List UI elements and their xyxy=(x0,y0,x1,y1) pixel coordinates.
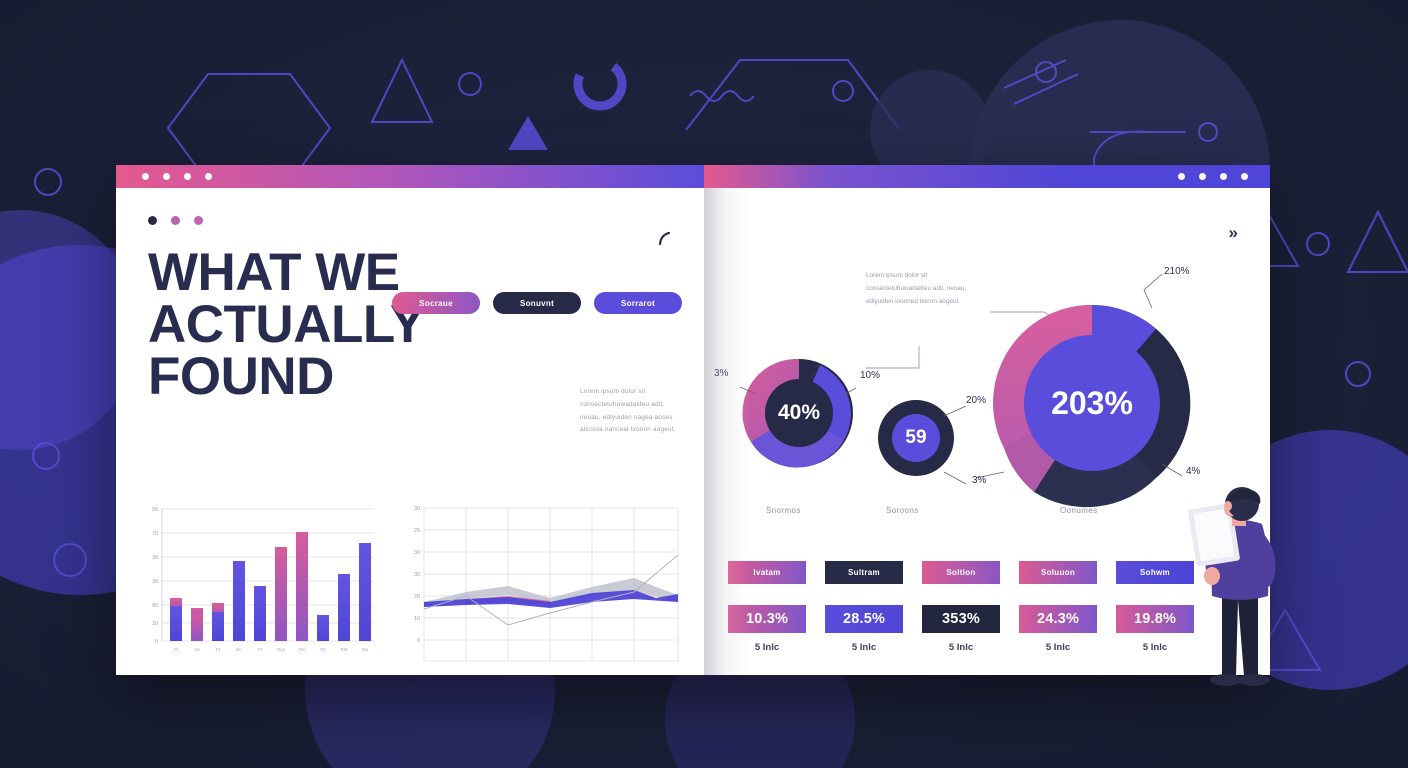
donut-medium-label-2: 10% xyxy=(860,370,880,381)
svg-text:30: 30 xyxy=(414,550,420,556)
accent-dot-row xyxy=(148,216,674,225)
right-page-topbar xyxy=(704,165,1270,188)
pill-button-3[interactable]: Sorrarot xyxy=(594,292,682,314)
stat-card[interactable]: Sultram 28.5% 5 Inlc xyxy=(825,561,903,653)
pill-button-2[interactable]: Sonuvnt xyxy=(493,292,581,314)
stat-note: 5 Inlc xyxy=(1019,642,1097,653)
page-title: WHAT WE ACTUALLY FOUND xyxy=(148,247,674,403)
svg-text:0: 0 xyxy=(155,639,158,645)
stat-value: 24.3% xyxy=(1019,605,1097,633)
stat-card[interactable]: Soltion 353% 5 Inlc xyxy=(922,561,1000,653)
svg-text:30: 30 xyxy=(152,555,158,561)
topbar-dot xyxy=(1178,173,1185,180)
line-chart-svg: 3025 3030 2010 0 xyxy=(396,495,686,667)
donut-large-value: 203% xyxy=(994,333,1190,473)
accent-dot-pink xyxy=(171,216,180,225)
svg-text:Eo: Eo xyxy=(236,647,242,652)
left-charts-row: 5070 3030 6020 0 xyxy=(134,495,694,667)
left-page-topbar xyxy=(116,165,704,188)
svg-text:10: 10 xyxy=(414,616,420,622)
svg-text:Ret: Ret xyxy=(340,647,348,652)
svg-text:Ae: Ae xyxy=(194,647,200,652)
svg-text:Oto: Oto xyxy=(298,647,306,652)
svg-text:20: 20 xyxy=(414,594,420,600)
person-holding-tablet-illustration xyxy=(1178,480,1408,768)
donut-chart-group: 40% 59 203% 3% 10% 20% 3% 210% 4% Snormo… xyxy=(704,248,1270,508)
pill-button-1[interactable]: Socraue xyxy=(392,292,480,314)
svg-text:30: 30 xyxy=(414,506,420,512)
stat-tag: Soluuon xyxy=(1019,561,1097,584)
line-chart: 3025 3030 2010 0 xyxy=(396,495,686,667)
svg-text:30: 30 xyxy=(414,572,420,578)
bar-chart: 5070 3030 6020 0 xyxy=(134,495,382,660)
topbar-dot xyxy=(1220,173,1227,180)
stat-tag: Soltion xyxy=(922,561,1000,584)
topbar-dot xyxy=(1199,173,1206,180)
slide-deck: WHAT WE ACTUALLY FOUND Socraue Sonuvnt S… xyxy=(116,165,1270,675)
svg-text:Cl: Cl xyxy=(174,647,178,652)
svg-text:30: 30 xyxy=(152,579,158,585)
topbar-dot xyxy=(184,173,191,180)
left-page: WHAT WE ACTUALLY FOUND Socraue Sonuvnt S… xyxy=(116,165,704,675)
donut-large-label-2: 4% xyxy=(1186,466,1200,477)
bar-chart-svg: 5070 3030 6020 0 xyxy=(134,495,382,660)
topbar-dot xyxy=(1241,173,1248,180)
donut-small-value: 59 xyxy=(858,368,974,508)
stat-tag: Sultram xyxy=(825,561,903,584)
svg-text:0: 0 xyxy=(417,638,420,644)
button-group: Socraue Sonuvnt Sorrarot xyxy=(392,292,682,314)
svg-text:60: 60 xyxy=(152,603,158,609)
stat-card[interactable]: Ivatam 10.3% 5 Inlc xyxy=(728,561,806,653)
svg-text:Ft: Ft xyxy=(216,647,221,652)
stat-note: 5 Inlc xyxy=(825,642,903,653)
stat-value: 353% xyxy=(922,605,1000,633)
accent-dot-pink xyxy=(194,216,203,225)
crescent-icon xyxy=(656,230,672,253)
donut-small-label-1: 20% xyxy=(966,395,986,406)
topbar-dot xyxy=(142,173,149,180)
svg-text:Pp: Pp xyxy=(320,647,326,652)
svg-text:50: 50 xyxy=(152,507,158,513)
donut-small-caption: Soroons xyxy=(886,506,919,515)
left-page-content: WHAT WE ACTUALLY FOUND Socraue Sonuvnt S… xyxy=(116,188,704,675)
stat-card-row: Ivatam 10.3% 5 Inlc Sultram 28.5% 5 Inlc… xyxy=(728,561,1194,653)
stat-value: 10.3% xyxy=(728,605,806,633)
double-chevron-right-icon[interactable]: » xyxy=(1229,223,1236,243)
topbar-dot xyxy=(163,173,170,180)
svg-text:20: 20 xyxy=(152,621,158,627)
donut-large-caption: Oonumes xyxy=(1060,506,1097,515)
topbar-dot xyxy=(205,173,212,180)
svg-text:70: 70 xyxy=(152,531,158,537)
svg-text:Da: Da xyxy=(362,647,368,652)
stat-note: 5 Inlc xyxy=(922,642,1000,653)
svg-text:Ft: Ft xyxy=(258,647,263,652)
svg-text:25: 25 xyxy=(414,528,420,534)
stat-value: 28.5% xyxy=(825,605,903,633)
body-text: Lorem ipsum dolor sit consectetuhuwadali… xyxy=(580,386,678,437)
svg-text:Oyo: Oyo xyxy=(277,647,286,652)
donut-large-label-1: 210% xyxy=(1164,266,1190,277)
donut-medium-label-1: 3% xyxy=(714,368,728,379)
donut-medium-caption: Snormos xyxy=(766,506,801,515)
stat-card[interactable]: Soluuon 24.3% 5 Inlc xyxy=(1019,561,1097,653)
donut-small-label-2: 3% xyxy=(972,475,986,486)
stat-tag: Ivatam xyxy=(728,561,806,584)
accent-dot-dark xyxy=(148,216,157,225)
stat-note: 5 Inlc xyxy=(728,642,806,653)
